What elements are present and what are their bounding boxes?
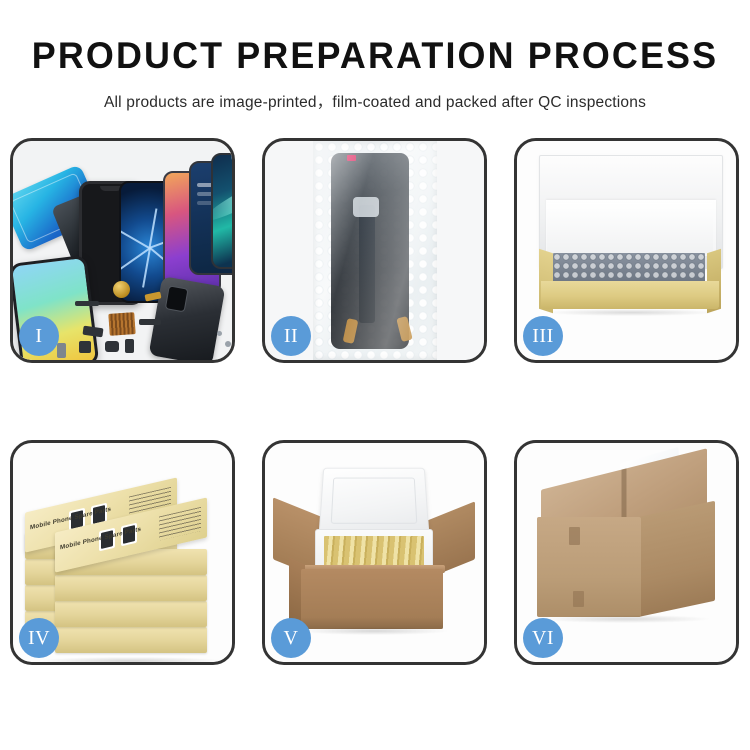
earpiece-mesh-part-icon <box>75 301 99 306</box>
screen-flex-cable-icon <box>359 205 375 323</box>
sim-tray-part-icon <box>57 343 66 358</box>
teal-swoosh-phone-icon <box>211 153 232 269</box>
carton-side-face-icon <box>637 501 715 618</box>
phone-back-housing-icon <box>149 276 226 360</box>
drop-shadow <box>39 657 223 662</box>
step-panel-5: V <box>262 440 487 665</box>
white-foam-sheet-icon <box>547 203 713 253</box>
product-preparation-page: PRODUCT PREPARATION PROCESS All products… <box>0 0 750 750</box>
step-panel-3: III <box>514 138 739 363</box>
step-badge-6: VI <box>523 618 563 658</box>
process-steps-grid: I II <box>10 138 740 683</box>
foam-box-lid-icon <box>319 468 430 535</box>
step-badge-4: IV <box>19 618 59 658</box>
step-panel-2: II <box>262 138 487 363</box>
ribbon-cable-part-icon <box>139 319 161 325</box>
carton-body-icon <box>301 569 443 629</box>
screw-part-icon <box>225 341 231 347</box>
step-panel-4: Mobile Phone Spare Parts Mobile Phone Sp… <box>10 440 235 665</box>
drop-shadow <box>543 615 709 623</box>
page-header: PRODUCT PREPARATION PROCESS All products… <box>0 0 750 112</box>
carton-front-face-icon <box>537 517 641 617</box>
gold-coil-part-icon <box>113 281 130 298</box>
kraft-tray-front-icon <box>541 281 719 309</box>
step-badge-3: III <box>523 316 563 356</box>
bubble-wrap-bag-icon <box>313 141 437 360</box>
page-subtitle: All products are image-printed，film-coat… <box>0 90 750 112</box>
step-badge-1: I <box>19 316 59 356</box>
camera-module-part-icon <box>79 341 91 353</box>
drop-shadow <box>547 309 715 316</box>
speaker-part-icon <box>105 341 119 352</box>
step-panel-6: VI <box>514 440 739 665</box>
stacked-box-layer <box>55 575 207 601</box>
stacked-box-layer <box>55 627 207 653</box>
screw-part-icon <box>217 331 222 336</box>
vibrator-part-icon <box>125 339 134 353</box>
pink-label-dot-icon <box>347 155 356 161</box>
carton-handle-tab-icon <box>569 527 580 545</box>
drop-shadow <box>301 627 447 635</box>
page-title: PRODUCT PREPARATION PROCESS <box>11 37 739 74</box>
stacked-box-layer <box>55 601 207 627</box>
copper-mesh-chip-icon <box>108 312 135 336</box>
step-badge-2: II <box>271 316 311 356</box>
step-panel-1: I <box>10 138 235 363</box>
carton-handle-tab-icon <box>573 591 584 607</box>
screen-connector-icon <box>353 197 379 217</box>
step-badge-5: V <box>271 618 311 658</box>
spec-text-lines <box>159 507 201 541</box>
